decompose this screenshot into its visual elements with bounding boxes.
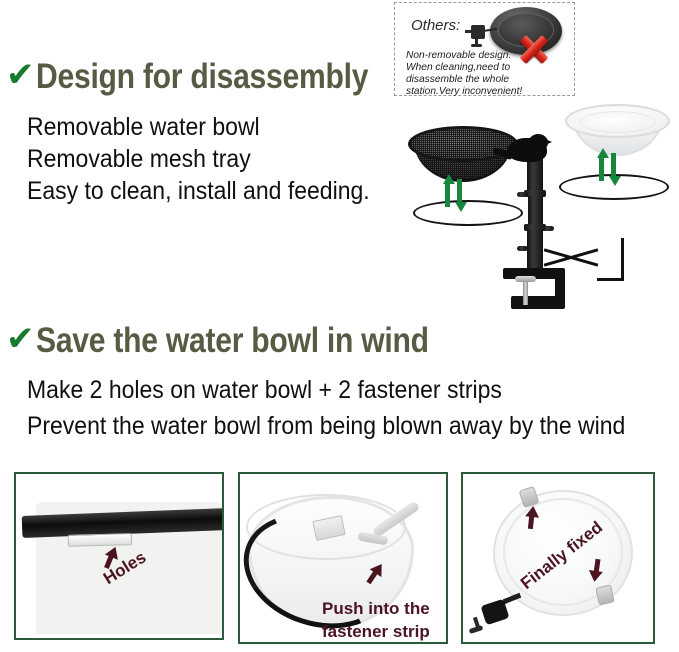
- post-knob-left-2-icon: [517, 246, 528, 251]
- clamp-knob-3-icon: [469, 625, 484, 634]
- clamp-screw-icon: [523, 279, 528, 305]
- panel-2-label-line-2: fastener strip: [322, 622, 430, 642]
- others-label: Others:: [411, 17, 460, 34]
- post-middle-icon: [528, 196, 543, 226]
- competitor-clamp-foot-icon: [471, 44, 482, 47]
- competitor-clamp-body-icon: [471, 25, 485, 39]
- others-text-line-3: disassemble the whole: [406, 73, 509, 85]
- fastener-clip-bottom-icon: [595, 585, 614, 606]
- others-text-line-1: Non-removable design.: [406, 49, 511, 61]
- checkmark-icon-2: ✔: [6, 322, 35, 356]
- checkmark-icon-1: ✔: [6, 58, 35, 92]
- section-2-line-1: Make 2 holes on water bowl + 2 fastener …: [27, 376, 502, 405]
- panel-2-label-line-1: Push into the: [322, 599, 430, 619]
- support-ring-left-icon: [413, 200, 523, 226]
- section-2-heading: Save the water bowl in wind: [36, 321, 429, 361]
- others-text-line-2: When cleaning,need to: [406, 61, 510, 73]
- clamp-knob-icon: [515, 276, 536, 282]
- clamp-bottom-jaw-icon: [511, 296, 565, 309]
- section-2-line-2: Prevent the water bowl from being blown …: [27, 412, 625, 441]
- hook-bracket-icon: [597, 238, 624, 281]
- section-1-heading: Design for disassembly: [36, 57, 368, 97]
- section-1-line-1: Removable water bowl: [27, 113, 260, 142]
- step-panel-holes: Holes: [14, 472, 224, 640]
- step-panel-push-into-strip: Push into the fastener strip: [238, 472, 448, 644]
- arrow-pair-left-icon: [444, 178, 466, 208]
- step-panel-finally-fixed: Finally fixed: [461, 472, 655, 644]
- clamp-stem-3-icon: [503, 593, 522, 604]
- post-knob-left-icon: [517, 192, 528, 197]
- fixed-arrow-up-icon: [524, 505, 540, 530]
- red-x-icon: [519, 34, 549, 64]
- arrow-pair-right-icon: [598, 152, 620, 182]
- section-1-line-3: Easy to clean, install and feeding.: [27, 177, 370, 206]
- others-comparison-box: Others: Non-removable design. When clean…: [394, 2, 575, 96]
- product-illustration: [393, 96, 679, 314]
- post-knob-right-icon: [543, 226, 554, 231]
- hole-slot-icon: [68, 533, 132, 547]
- bird-ornament-icon: [501, 134, 549, 168]
- section-1-line-2: Removable mesh tray: [27, 145, 251, 174]
